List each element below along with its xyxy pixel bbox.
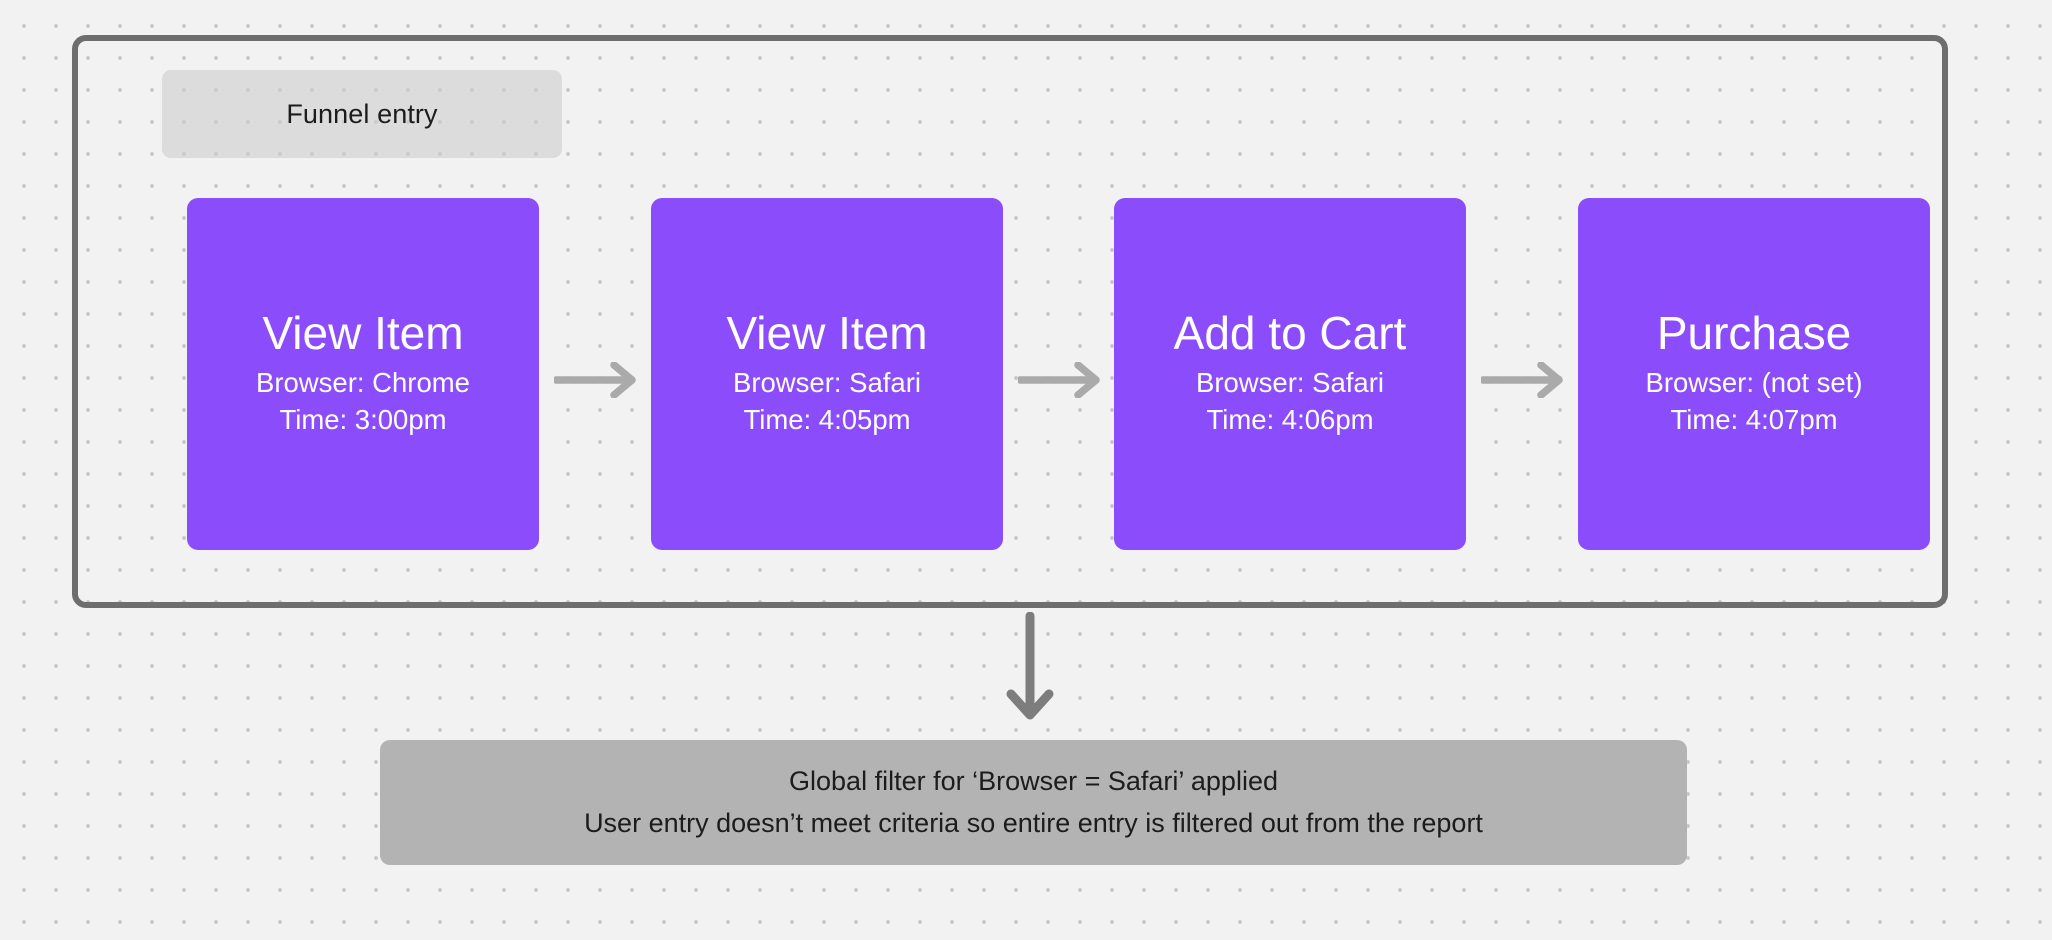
arrow-right-icon: [1018, 362, 1110, 398]
step-title: Purchase: [1657, 310, 1851, 358]
step-time: Time: 4:07pm: [1670, 401, 1837, 438]
step-browser: Browser: Chrome: [256, 364, 470, 401]
funnel-entry-label: Funnel entry: [162, 70, 562, 158]
funnel-step-card-add-to-cart[interactable]: Add to Cart Browser: Safari Time: 4:06pm: [1114, 198, 1466, 550]
step-title: View Item: [726, 310, 927, 358]
funnel-entry-label-text: Funnel entry: [286, 99, 437, 130]
step-time: Time: 4:06pm: [1206, 401, 1373, 438]
funnel-step-card-view-item-safari[interactable]: View Item Browser: Safari Time: 4:05pm: [651, 198, 1003, 550]
step-browser: Browser: Safari: [1196, 364, 1384, 401]
step-browser: Browser: Safari: [733, 364, 921, 401]
step-title: Add to Cart: [1174, 310, 1407, 358]
funnel-step-card-view-item-chrome[interactable]: View Item Browser: Chrome Time: 3:00pm: [187, 198, 539, 550]
arrow-right-icon: [1481, 362, 1573, 398]
callout-line-1: Global filter for ‘Browser = Safari’ app…: [789, 761, 1278, 802]
step-time: Time: 3:00pm: [279, 401, 446, 438]
step-time: Time: 4:05pm: [743, 401, 910, 438]
funnel-step-card-purchase[interactable]: Purchase Browser: (not set) Time: 4:07pm: [1578, 198, 1930, 550]
arrow-right-icon: [554, 362, 646, 398]
global-filter-callout: Global filter for ‘Browser = Safari’ app…: [380, 740, 1687, 865]
arrow-down-icon: [1000, 612, 1060, 730]
step-title: View Item: [262, 310, 463, 358]
diagram-canvas: Funnel entry View Item Browser: Chrome T…: [0, 0, 2052, 940]
step-browser: Browser: (not set): [1645, 364, 1862, 401]
callout-line-2: User entry doesn’t meet criteria so enti…: [584, 803, 1483, 844]
